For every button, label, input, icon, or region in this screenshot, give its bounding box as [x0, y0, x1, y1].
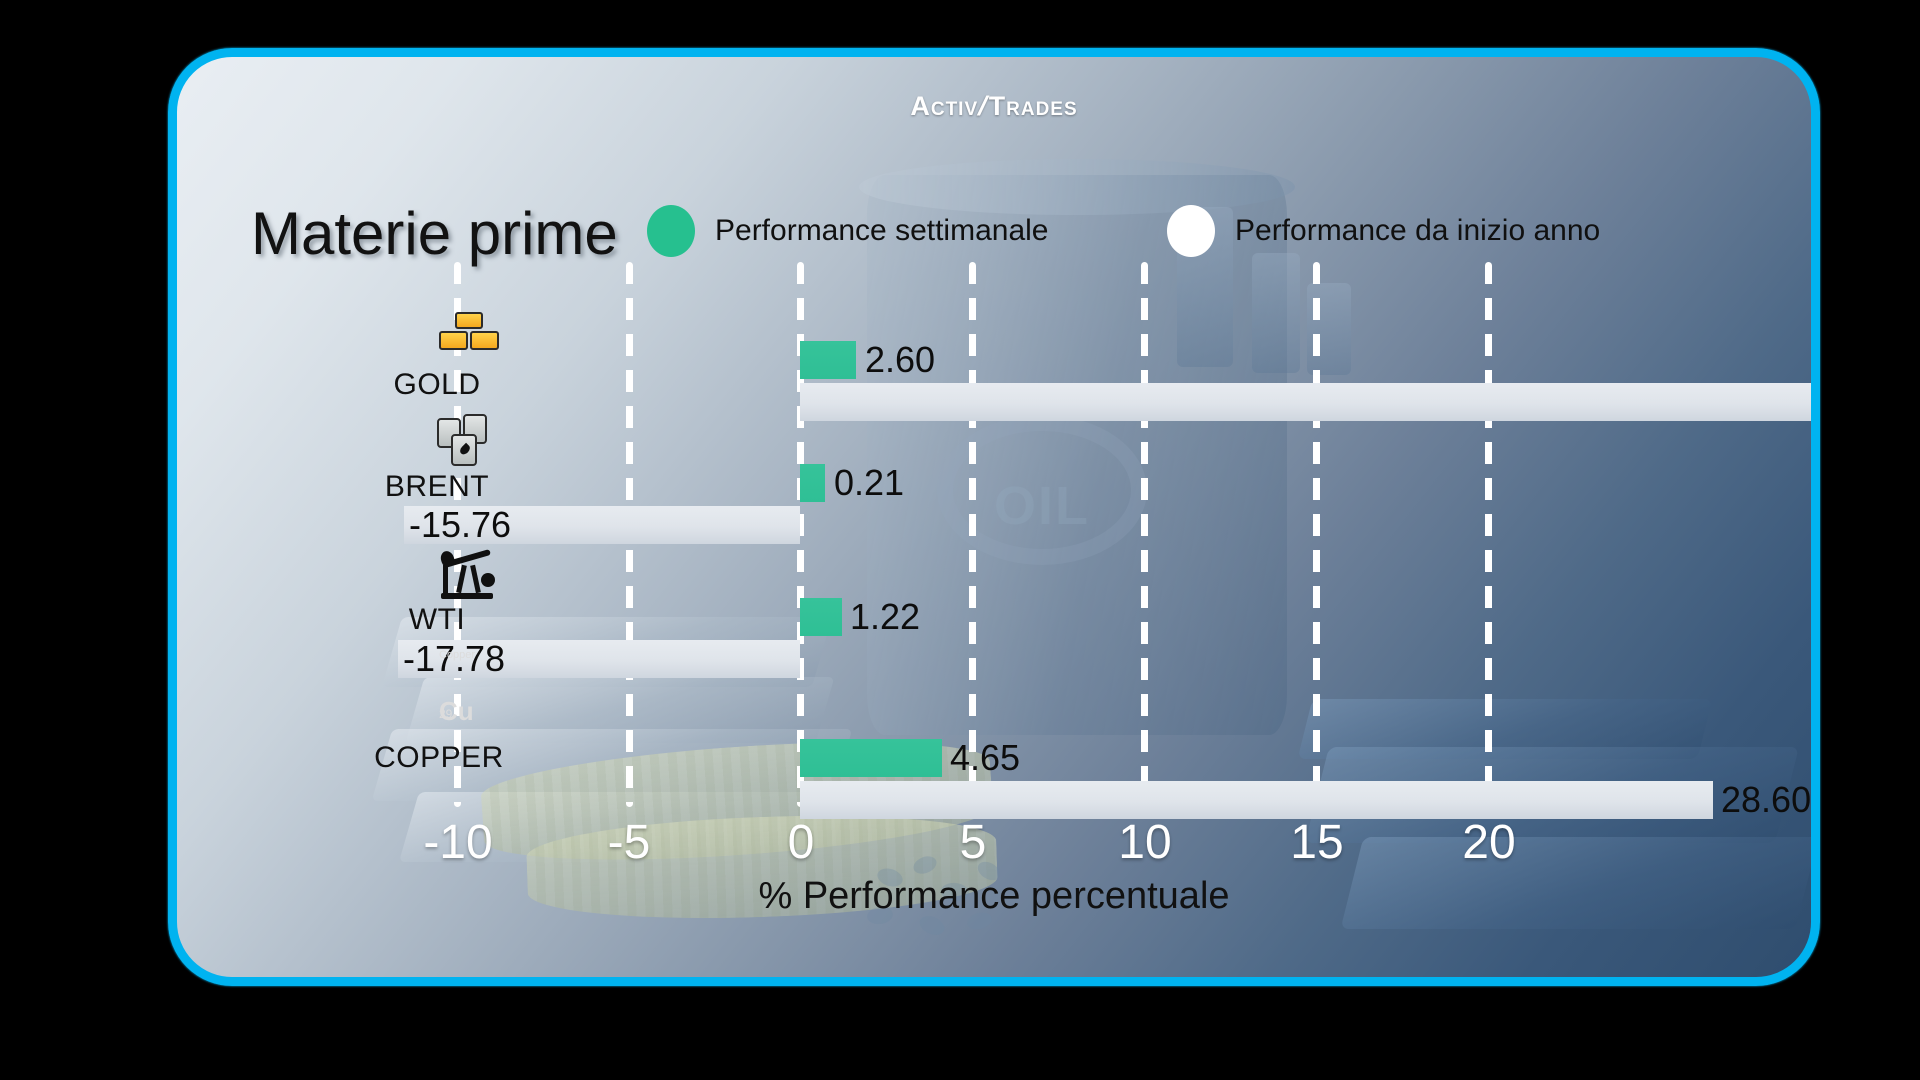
category-wti: WTI: [327, 547, 547, 637]
bar-copper-ytd: [800, 781, 1713, 819]
bar-chart-plot: GOLD 2.60 59.40 BRENT 0.21 -15.76: [177, 57, 1811, 977]
xtick--10: -10: [423, 815, 492, 870]
category-label-brent: BRENT: [385, 470, 489, 503]
bar-brent-weekly: [800, 464, 825, 502]
bar-gold-weekly: [800, 341, 856, 379]
xtick-20: 20: [1462, 815, 1515, 870]
xtick--5: -5: [608, 815, 651, 870]
bar-label-gold-weekly: 2.60: [865, 341, 935, 379]
gold-bars-icon: [327, 312, 547, 364]
gridline-10: [1141, 262, 1148, 807]
xtick-0: 0: [788, 815, 815, 870]
xtick-5: 5: [960, 815, 987, 870]
bar-label-brent-ytd: -15.76: [409, 506, 511, 544]
bar-gold-ytd: [800, 383, 1820, 421]
category-label-copper: COPPER: [374, 741, 504, 774]
xtick-15: 15: [1290, 815, 1343, 870]
oil-pumpjack-icon: [327, 547, 547, 599]
gridline-20: [1485, 262, 1492, 807]
bar-label-wti-weekly: 1.22: [850, 598, 920, 636]
category-gold: GOLD: [327, 312, 547, 402]
gridline-5: [969, 262, 976, 807]
bar-label-brent-weekly: 0.21: [834, 464, 904, 502]
gridline-15: [1313, 262, 1320, 807]
x-axis-title: % Performance percentuale: [177, 875, 1811, 918]
copper-element-icon: 29 Cu Copper: [329, 685, 549, 737]
category-copper: 29 Cu Copper COPPER: [329, 685, 549, 775]
category-label-gold: GOLD: [393, 368, 480, 401]
bar-label-copper-ytd: 28.60: [1721, 781, 1811, 819]
oil-barrels-icon: [327, 414, 547, 466]
bar-wti-weekly: [800, 598, 842, 636]
category-label-wti: WTI: [409, 603, 465, 636]
infographic-card: OIL Activ/Trades Materie: [168, 48, 1820, 986]
bar-copper-weekly: [800, 739, 942, 777]
xtick-10: 10: [1118, 815, 1171, 870]
screenshot-root: OIL Activ/Trades Materie: [0, 0, 1920, 1080]
category-brent: BRENT: [327, 414, 547, 504]
bar-label-copper-weekly: 4.65: [950, 739, 1020, 777]
